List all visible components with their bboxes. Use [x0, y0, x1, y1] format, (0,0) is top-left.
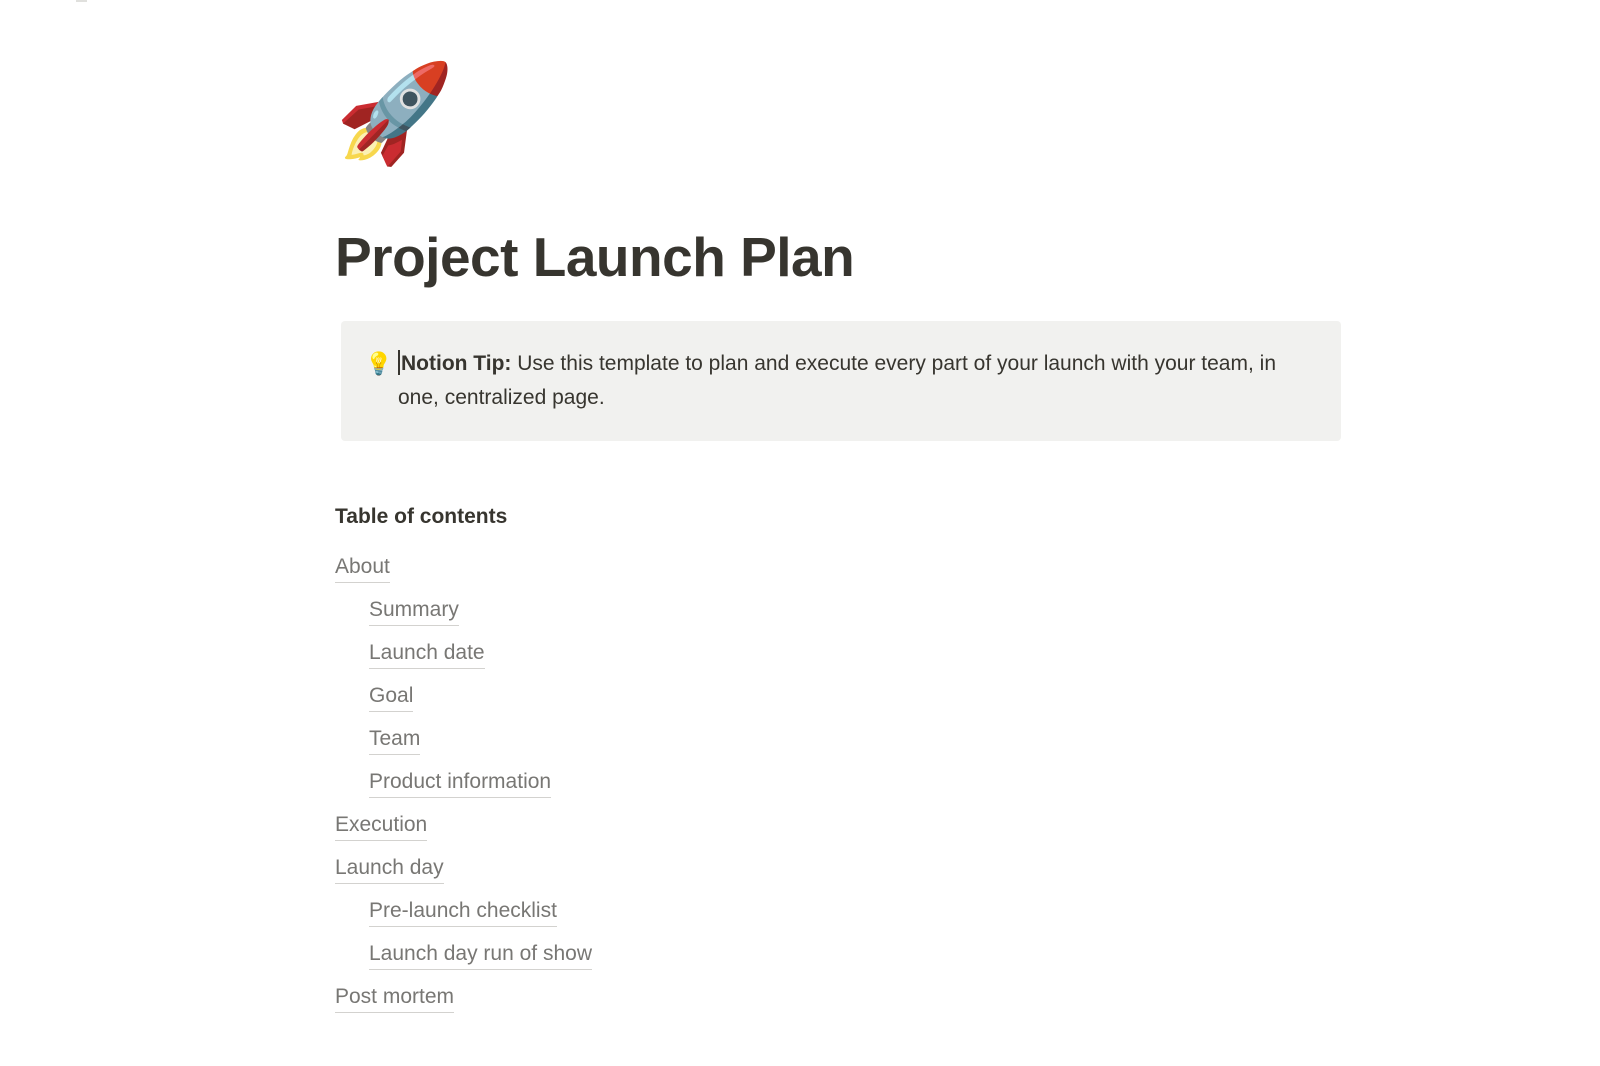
toc-item: Execution: [335, 811, 1375, 854]
toc-item: Summary: [335, 596, 1375, 639]
toc-link-execution[interactable]: Execution: [335, 811, 427, 841]
page-title[interactable]: Project Launch Plan: [335, 170, 1375, 289]
toc-link-product-information[interactable]: Product information: [369, 768, 551, 798]
toc-link-launch-date[interactable]: Launch date: [369, 639, 485, 669]
rocket-emoji-icon[interactable]: 🚀: [335, 58, 447, 170]
toc-item: Launch day: [335, 854, 1375, 897]
toc-item: About: [335, 553, 1375, 596]
notion-tip-callout[interactable]: 💡 Notion Tip: Use this template to plan …: [341, 321, 1341, 441]
toc-link-launch-day[interactable]: Launch day: [335, 854, 444, 884]
toc-item: Product information: [335, 768, 1375, 811]
document-page: 🚀 Project Launch Plan 💡 Notion Tip: Use …: [0, 0, 1600, 1066]
toc-item: Launch date: [335, 639, 1375, 682]
toc-link-launch-day-run-of-show[interactable]: Launch day run of show: [369, 940, 592, 970]
toc-link-team[interactable]: Team: [369, 725, 420, 755]
toc-item: Goal: [335, 682, 1375, 725]
toc-item: Post mortem: [335, 983, 1375, 1026]
toc-item: Team: [335, 725, 1375, 768]
toc-link-post-mortem[interactable]: Post mortem: [335, 983, 454, 1013]
table-of-contents-list: AboutSummaryLaunch dateGoalTeamProduct i…: [335, 531, 1375, 1026]
toc-link-summary[interactable]: Summary: [369, 596, 459, 626]
toc-link-goal[interactable]: Goal: [369, 682, 413, 712]
top-edge-artifact: [76, 0, 87, 2]
text-cursor-caret: [398, 350, 400, 375]
callout-body-text: Use this template to plan and execute ev…: [398, 352, 1276, 409]
toc-item: Pre-launch checklist: [335, 897, 1375, 940]
toc-link-pre-launch-checklist[interactable]: Pre-launch checklist: [369, 897, 557, 927]
light-bulb-icon[interactable]: 💡: [365, 347, 395, 381]
toc-item: Launch day run of show: [335, 940, 1375, 983]
callout-text[interactable]: Notion Tip: Use this template to plan an…: [395, 347, 1309, 415]
toc-link-about[interactable]: About: [335, 553, 390, 583]
table-of-contents-heading: Table of contents: [335, 441, 1375, 531]
callout-bold-label: Notion Tip:: [401, 352, 511, 375]
page-content: 🚀 Project Launch Plan 💡 Notion Tip: Use …: [335, 0, 1375, 1026]
